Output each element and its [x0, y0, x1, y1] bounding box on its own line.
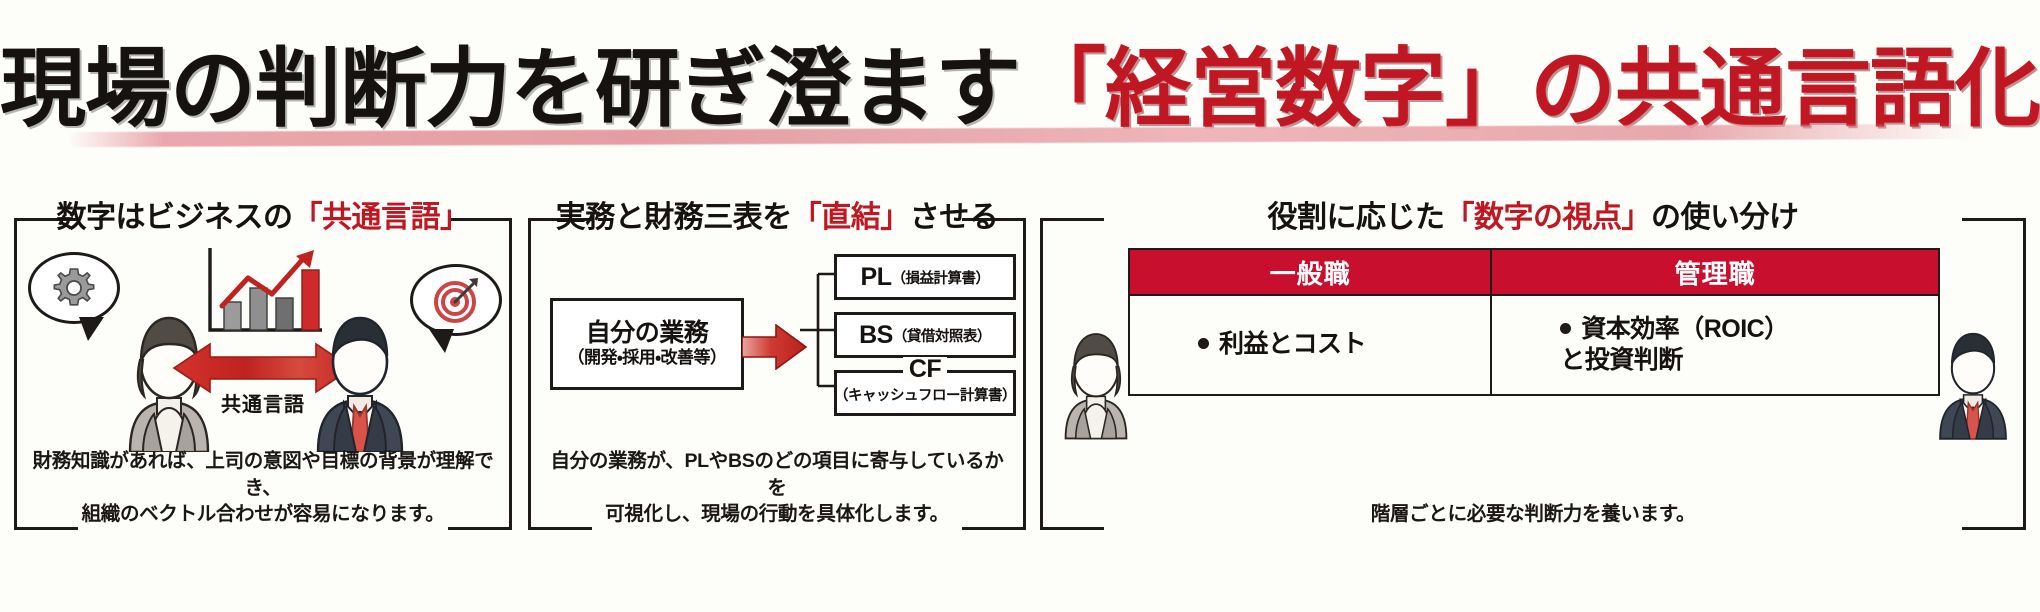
- statement-abbr: PL: [861, 263, 892, 292]
- panel-1-heading-red: 「共通言語」: [293, 201, 470, 234]
- panel-3-caption: 階層ごとに必要な判断力を養います。: [1054, 501, 2012, 528]
- statement-abbr: BS: [859, 321, 893, 350]
- panel-2-heading-red: 「直結」: [792, 201, 910, 234]
- source-box: 自分の業務 （開発・採用・改善等）: [550, 298, 744, 390]
- statement-full: （キャッシュフロー計算書）: [834, 384, 1016, 405]
- target-icon: [431, 275, 481, 325]
- gear-speech-bubble: [28, 252, 120, 324]
- panel-3-heading-red: 「数字の視点」: [1445, 201, 1652, 234]
- panel-1-illustration: 共通言語: [14, 246, 512, 446]
- source-box-line-2: （開発・採用・改善等）: [567, 347, 726, 368]
- table-cell-manager-line-1: 資本効率（ROIC）: [1581, 315, 1789, 343]
- panel-financial-statements: 実務と財務三表を「直結」させる 自分の業務 （開発・採用・改善等） PL（損益計…: [528, 196, 1026, 550]
- businesswoman-avatar: [1050, 318, 1142, 442]
- table-header-manager: 管理職: [1491, 249, 1939, 295]
- target-speech-bubble: [410, 264, 502, 336]
- panel-3-heading-black-2: の使い分け: [1651, 201, 1799, 234]
- panel-2-caption: 自分の業務が、PLやBSのどの項目に寄与しているかを 可視化し、現場の行動を具体…: [542, 448, 1012, 528]
- statement-box-bs: BS（貸借対照表）: [834, 312, 1016, 358]
- panel-2-caption-line-2: 可視化し、現場の行動を具体化します。: [542, 501, 1012, 528]
- panel-1-caption-line-1: 財務知識があれば、上司の意図や目標の背景が理解でき、: [28, 448, 498, 501]
- table-cell-general-text: 利益とコスト: [1219, 330, 1366, 358]
- panel-common-language: 数字はビジネスの「共通言語」: [14, 196, 512, 550]
- page-title-black-part: 現場の判断力を研ぎ澄ます: [0, 41, 1020, 137]
- table-cell-general: 利益とコスト: [1129, 295, 1491, 395]
- table-cell-manager: 資本効率（ROIC）と投資判断: [1491, 295, 1939, 395]
- panel-3-heading-black-1: 役割に応じた: [1268, 201, 1445, 234]
- businessman-avatar: [1926, 318, 2020, 442]
- role-comparison-table: 一般職 管理職 利益とコスト 資本効率（ROIC）と投資判断: [1128, 248, 1940, 396]
- panel-3-role-table-area: 一般職 管理職 利益とコスト 資本効率（ROIC）と投資判断: [1040, 244, 2026, 444]
- panel-2-heading-black-2: させる: [910, 201, 999, 234]
- statement-box-cf: CF （キャッシュフロー計算書）: [834, 370, 1016, 416]
- bullet-icon: [1560, 323, 1571, 334]
- table-row: 利益とコスト 資本効率（ROIC）と投資判断: [1129, 295, 1939, 395]
- panel-2-caption-line-1: 自分の業務が、PLやBSのどの項目に寄与しているかを: [542, 448, 1012, 501]
- gear-icon: [51, 265, 97, 311]
- statement-abbr: CF: [903, 357, 947, 382]
- page-title: 現場の判断力を研ぎ澄ます「経営数字」の共通言語化: [0, 44, 2040, 134]
- title-area: 現場の判断力を研ぎ澄ます「経営数字」の共通言語化: [0, 44, 2040, 174]
- page-title-red-part: 「経営数字」の共通言語化: [1020, 41, 2040, 137]
- panel-1-heading-black-1: 数字はビジネスの: [57, 201, 293, 234]
- table-cell-manager-line-2: と投資判断: [1560, 346, 1683, 374]
- panel-1-caption: 財務知識があれば、上司の意図や目標の背景が理解でき、 組織のベクトル合わせが容易…: [28, 448, 498, 528]
- statement-full: （貸借対照表）: [893, 325, 991, 346]
- source-box-line-1: 自分の業務: [586, 320, 709, 348]
- panel-role-perspective: 役割に応じた「数字の視点」の使い分け 一般職 管理職 利益とコスト 資本効率（R…: [1040, 196, 2026, 550]
- red-arrow-icon: [742, 324, 808, 370]
- arrow-label: 共通言語: [221, 388, 305, 417]
- table-header-general: 一般職: [1129, 249, 1491, 295]
- table-header-row: 一般職 管理職: [1129, 249, 1939, 295]
- panel-3-heading: 役割に応じた「数字の視点」の使い分け: [1040, 196, 2026, 240]
- panel-2-heading-black-1: 実務と財務三表を: [556, 201, 792, 234]
- panel-3-caption-line-1: 階層ごとに必要な判断力を養います。: [1054, 501, 2012, 528]
- panel-2-diagram: 自分の業務 （開発・採用・改善等） PL（損益計算書） BS（貸借対照表） CF: [528, 250, 1026, 440]
- statement-full: （損益計算書）: [891, 267, 989, 288]
- businessman-avatar: [300, 302, 420, 452]
- panel-2-heading: 実務と財務三表を「直結」させる: [528, 196, 1026, 240]
- bullet-icon: [1198, 338, 1209, 349]
- panel-1-caption-line-2: 組織のベクトル合わせが容易になります。: [28, 501, 498, 528]
- panel-1-heading: 数字はビジネスの「共通言語」: [14, 196, 512, 240]
- statement-box-pl: PL（損益計算書）: [834, 254, 1016, 300]
